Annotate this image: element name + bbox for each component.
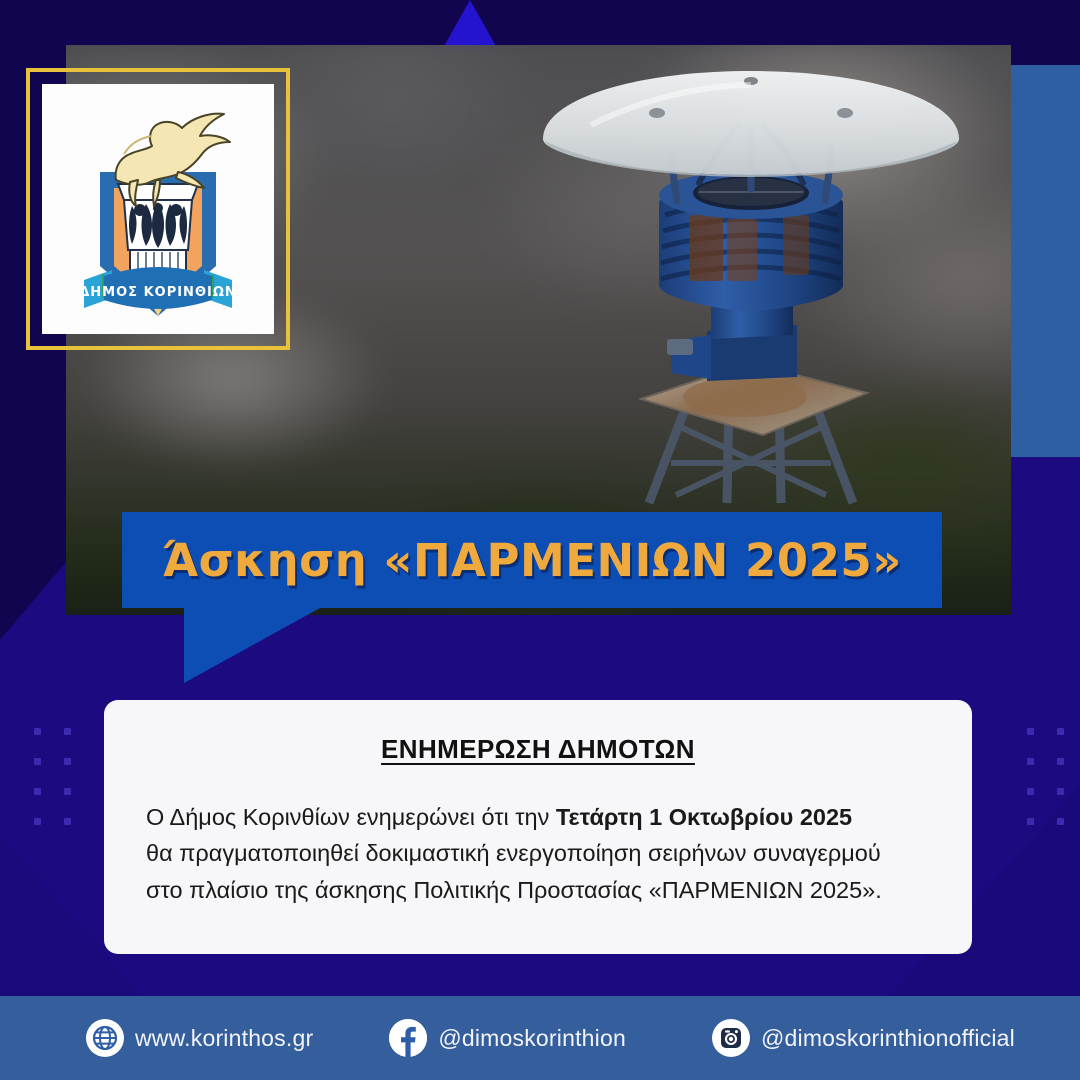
footer-instagram[interactable]: @dimoskorinthionofficial (712, 1019, 1015, 1057)
footer-website[interactable]: www.korinthos.gr (86, 1019, 313, 1057)
info-card: ΕΝΗΜΕΡΩΣΗ ΔΗΜΟΤΩΝ Ο Δήμος Κορινθίων ενημ… (104, 700, 972, 954)
title-banner: Άσκηση «ΠΑΡΜΕΝΙΩΝ 2025» (122, 512, 942, 608)
card-body-line3: στο πλαίσιο της άσκησης Πολιτικής Προστα… (146, 877, 882, 903)
banner-title-text: Άσκηση «ΠΑΡΜΕΝΙΩΝ 2025» (162, 534, 902, 587)
dot-grid-right (1015, 716, 1075, 836)
municipality-emblem-icon: ΔΗΜΟΣ ΚΟΡΙΝΘΙΩΝ (42, 84, 274, 334)
footer-bar: www.korinthos.gr @dimoskorinthion (0, 996, 1080, 1080)
card-body-date: Τετάρτη 1 Οκτωβρίου 2025 (556, 804, 852, 830)
banner-tail (184, 608, 320, 683)
card-body: Ο Δήμος Κορινθίων ενημερώνει ότι την Τετ… (146, 799, 930, 908)
card-body-line2: θα πραγματοποιηθεί δοκιμαστική ενεργοποί… (146, 840, 881, 866)
footer-facebook-label: @dimoskorinthion (438, 1025, 626, 1052)
globe-icon (86, 1019, 124, 1057)
footer-facebook[interactable]: @dimoskorinthion (389, 1019, 626, 1057)
footer-website-label: www.korinthos.gr (135, 1025, 313, 1052)
logo-card: ΔΗΜΟΣ ΚΟΡΙΝΘΙΩΝ (42, 84, 274, 334)
card-heading: ΕΝΗΜΕΡΩΣΗ ΔΗΜΟΤΩΝ (104, 734, 972, 765)
footer-instagram-label: @dimoskorinthionofficial (761, 1025, 1015, 1052)
facebook-icon (389, 1019, 427, 1057)
siren-illustration (531, 63, 971, 533)
instagram-icon (712, 1019, 750, 1057)
dot-grid-left (22, 716, 82, 836)
card-body-line1-pre: Ο Δήμος Κορινθίων ενημερώνει ότι την (146, 804, 556, 830)
emblem-ribbon-text: ΔΗΜΟΣ ΚΟΡΙΝΘΙΩΝ (79, 285, 237, 300)
poster-root: ΔΗΜΟΣ ΚΟΡΙΝΘΙΩΝ Άσκηση «ΠΑΡΜΕΝΙΩΝ 2025» … (0, 0, 1080, 1080)
